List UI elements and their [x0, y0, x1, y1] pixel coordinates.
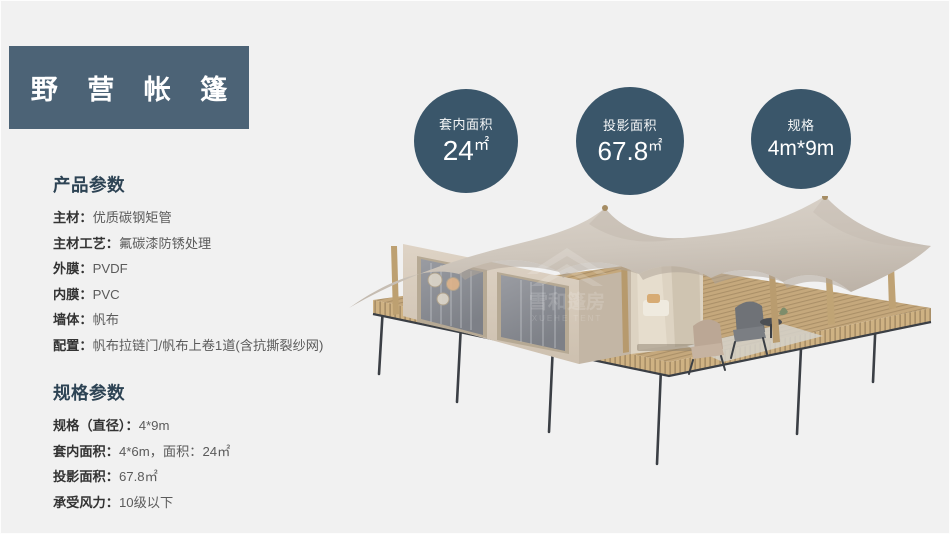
spec-value: 优质碳钢矩管 — [93, 210, 172, 225]
badge-label: 投影面积 — [603, 119, 657, 132]
spec-label: 墙体： — [53, 312, 93, 327]
watermark-subtext: XUEHE TENT — [532, 314, 603, 323]
product-spec-page: 野 营 帐 篷 产品参数 主材：优质碳钢矩管 主材工艺：氟碳漆防锈处理 外膜：P… — [0, 0, 950, 534]
spec-label: 规格（直径）： — [53, 418, 139, 433]
badge-unit: ㎡ — [648, 138, 662, 154]
spec-value: 4*6m，面积：24㎡ — [119, 444, 230, 459]
spec-value: 氟碳漆防锈处理 — [119, 236, 211, 251]
spec-value: PVC — [93, 287, 120, 302]
badge-value: 24㎡ — [443, 137, 490, 165]
badge-size: 规格 4m*9m — [751, 89, 851, 189]
spec-label: 外膜： — [53, 261, 93, 276]
badge-label: 套内面积 — [439, 118, 493, 131]
spec-label: 套内面积： — [53, 444, 119, 459]
watermark-text: 雪和篷房 — [529, 290, 605, 313]
spec-value: 67.8㎡ — [119, 469, 158, 484]
spec-label: 承受风力： — [53, 495, 119, 510]
badge-unit: ㎡ — [474, 136, 489, 153]
badge-value: 67.8㎡ — [598, 138, 663, 164]
spec-label: 主材工艺： — [53, 236, 119, 251]
spec-label: 配置： — [53, 338, 93, 353]
title-banner: 野 营 帐 篷 — [9, 46, 249, 129]
badge-value: 4m*9m — [768, 138, 835, 159]
spec-label: 主材： — [53, 210, 93, 225]
badge-label: 规格 — [787, 119, 814, 132]
badge-indoor-area: 套内面积 24㎡ — [414, 89, 518, 193]
badge-projection-area: 投影面积 67.8㎡ — [576, 87, 684, 195]
spec-label: 内膜： — [53, 287, 93, 302]
tent-illustration: 雪和篷房 XUEHE TENT — [331, 196, 950, 534]
spec-value: 帆布 — [93, 312, 119, 327]
product-parameters-heading: 产品参数 — [53, 175, 393, 196]
page-title: 野 营 帐 篷 — [20, 68, 239, 107]
spec-value: 10级以下 — [119, 495, 173, 510]
spec-value: PVDF — [93, 261, 128, 276]
spec-value: 帆布拉链门/帆布上卷1道(含抗撕裂纱网) — [93, 338, 324, 353]
spec-label: 投影面积： — [53, 469, 119, 484]
spec-value: 4*9m — [139, 418, 170, 433]
